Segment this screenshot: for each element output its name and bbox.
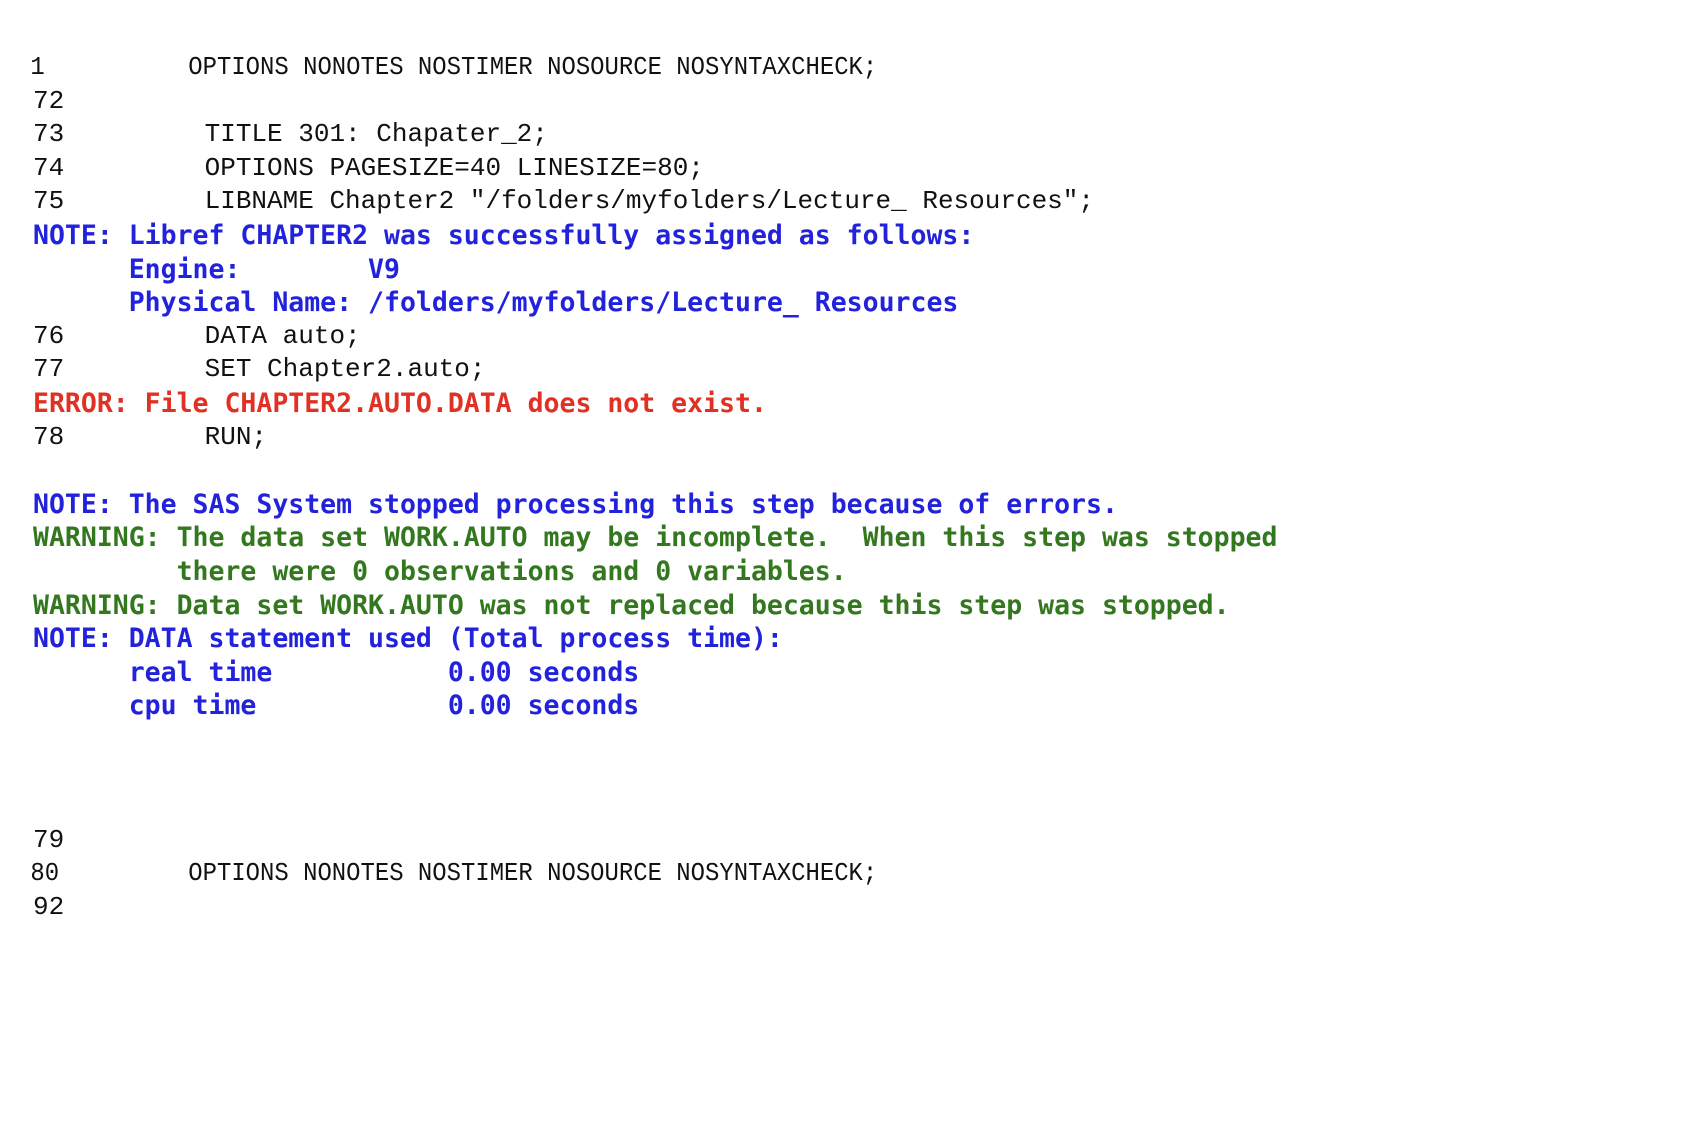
- log-line-note: cpu time 0.00 seconds: [0, 689, 1277, 723]
- log-line-source: 79: [0, 824, 1277, 858]
- log-line-blank: [0, 723, 1277, 757]
- log-line-source: 72: [0, 85, 1277, 119]
- log-line-source: 80 OPTIONS NONOTES NOSTIMER NOSOURCE NOS…: [0, 857, 1175, 891]
- log-line-warning: WARNING: The data set WORK.AUTO may be i…: [0, 521, 1277, 555]
- log-line-warning: WARNING: Data set WORK.AUTO was not repl…: [0, 589, 1277, 623]
- log-line-source: 75 LIBNAME Chapter2 "/folders/myfolders/…: [0, 185, 1277, 219]
- log-line-source: 77 SET Chapter2.auto;: [0, 353, 1277, 387]
- log-line-note: NOTE: Libref CHAPTER2 was successfully a…: [0, 219, 1277, 253]
- log-line-blank: [0, 790, 1277, 824]
- log-line-warning: there were 0 observations and 0 variable…: [0, 555, 1277, 589]
- log-line-source: 73 TITLE 301: Chapater_2;: [0, 118, 1277, 152]
- log-line-error: ERROR: File CHAPTER2.AUTO.DATA does not …: [0, 387, 1277, 421]
- log-line-note: NOTE: The SAS System stopped processing …: [0, 488, 1277, 522]
- log-line-source: 1 OPTIONS NONOTES NOSTIMER NOSOURCE NOSY…: [0, 51, 1175, 85]
- log-line-note: real time 0.00 seconds: [0, 656, 1277, 690]
- log-line-source: 76 DATA auto;: [0, 320, 1277, 354]
- log-line-note: Engine: V9: [0, 253, 1277, 287]
- log-line-source: 92: [0, 891, 1277, 925]
- log-line-note: NOTE: DATA statement used (Total process…: [0, 622, 1277, 656]
- log-line-blank: [0, 454, 1277, 488]
- log-line-note: Physical Name: /folders/myfolders/Lectur…: [0, 286, 1277, 320]
- log-line-source: 78 RUN;: [0, 421, 1277, 455]
- log-line-blank: [0, 756, 1277, 790]
- sas-log-page: 1 OPTIONS NONOTES NOSTIMER NOSOURCE NOSY…: [0, 0, 1684, 1126]
- log-output-text[interactable]: 1 OPTIONS NONOTES NOSTIMER NOSOURCE NOSY…: [0, 13, 1277, 924]
- log-line-source: 74 OPTIONS PAGESIZE=40 LINESIZE=80;: [0, 152, 1277, 186]
